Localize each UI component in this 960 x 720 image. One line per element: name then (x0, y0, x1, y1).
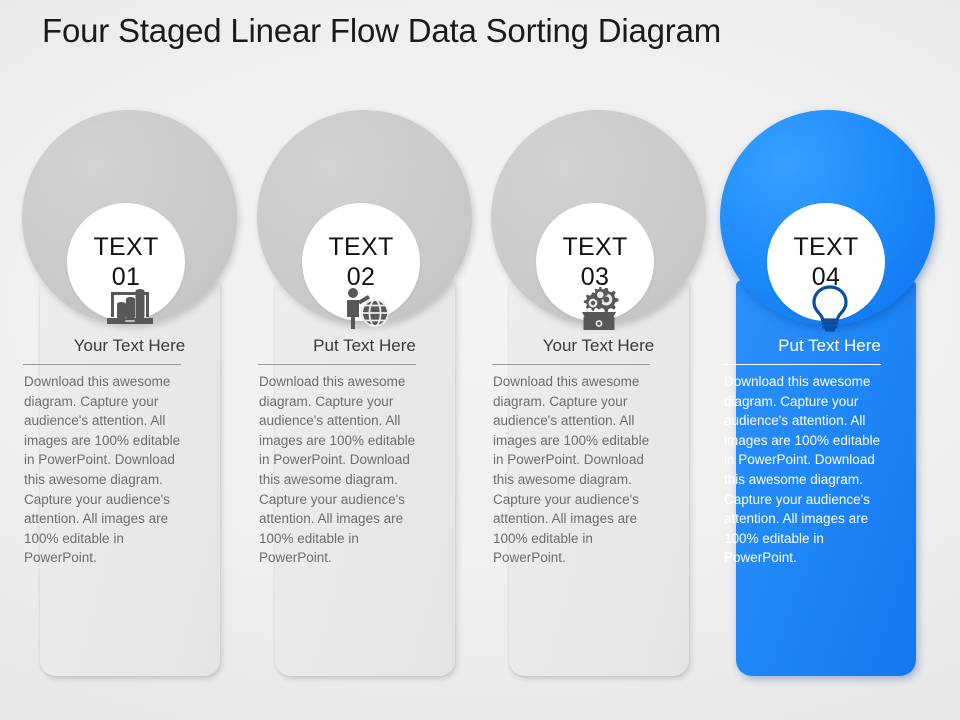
stage-card-2[interactable] (275, 280, 455, 676)
stage-badge-label-2: TEXT (328, 232, 393, 262)
stage-badge-label-3: TEXT (562, 232, 627, 262)
stage-column-1[interactable]: Your Text Here Download this awesome dia… (12, 110, 247, 690)
stage-badge-2[interactable]: TEXT 02 (302, 203, 420, 321)
stage-badge-number-1: 01 (112, 262, 140, 292)
stage-badge-1[interactable]: TEXT 01 (67, 203, 185, 321)
stage-card-1[interactable] (40, 280, 220, 676)
stage-badge-number-2: 02 (347, 262, 375, 292)
stage-column-3[interactable]: Your Text Here Download this awesome dia… (481, 110, 716, 690)
stage-badge-4[interactable]: TEXT 04 (767, 203, 885, 321)
stage-card-3[interactable] (509, 280, 689, 676)
stage-column-4[interactable]: Put Text Here Download this awesome diag… (712, 110, 947, 690)
stage-badge-number-3: 03 (581, 262, 609, 292)
stage-card-4[interactable] (736, 280, 916, 676)
stage-badge-label-4: TEXT (793, 232, 858, 262)
page-title: Four Staged Linear Flow Data Sorting Dia… (42, 10, 721, 52)
stage-badge-number-4: 04 (812, 262, 840, 292)
stage-badge-label-1: TEXT (93, 232, 158, 262)
slide-canvas: Four Staged Linear Flow Data Sorting Dia… (0, 0, 960, 720)
stage-column-2[interactable]: Put Text Here Download this awesome diag… (247, 110, 482, 690)
stage-badge-3[interactable]: TEXT 03 (536, 203, 654, 321)
